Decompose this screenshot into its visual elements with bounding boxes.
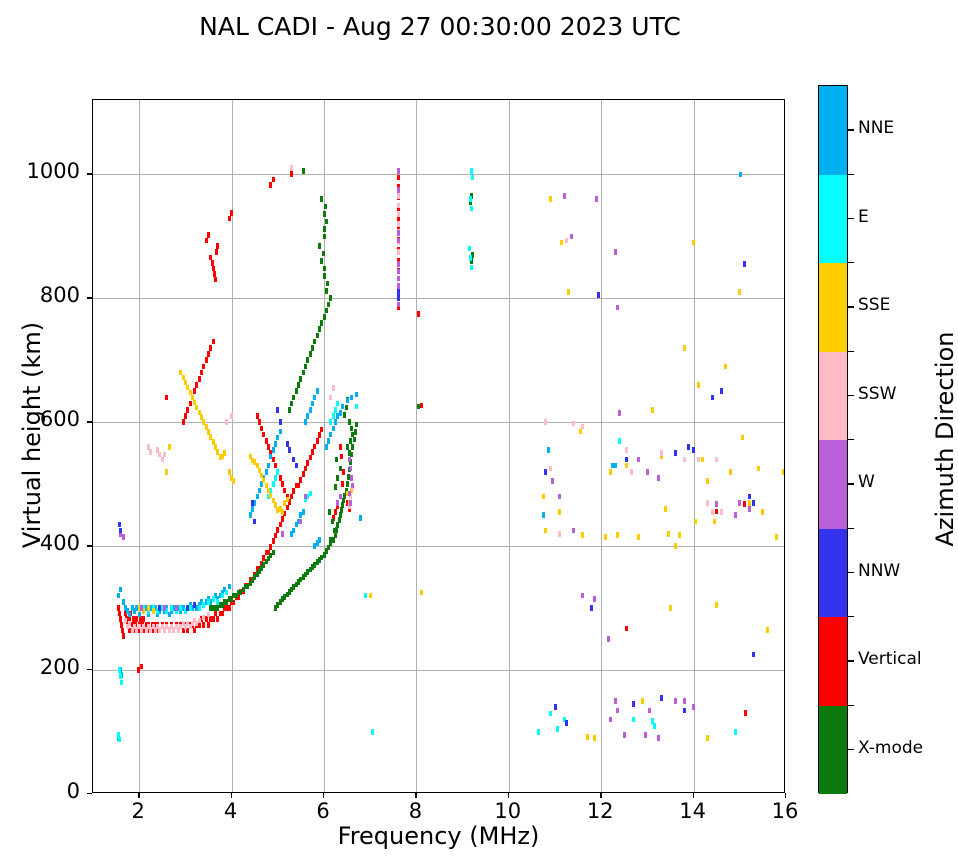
- echo-marker: [225, 590, 228, 596]
- echo-marker: [334, 509, 337, 515]
- echo-marker: [325, 288, 328, 294]
- x-tick-label: 2: [108, 799, 168, 823]
- echo-marker: [118, 522, 121, 528]
- y-axis-label: Virtual height (km): [18, 285, 46, 585]
- echo-marker: [251, 506, 254, 512]
- echo-marker: [320, 427, 323, 433]
- echo-marker: [329, 432, 332, 438]
- echo-marker: [542, 512, 545, 518]
- echo-marker: [738, 500, 741, 506]
- colorbar-boundary-tick: [848, 616, 854, 617]
- echo-marker: [572, 421, 575, 427]
- echo-marker: [311, 345, 314, 351]
- echo-marker: [547, 447, 550, 453]
- x-tick-label: 16: [755, 799, 815, 823]
- echo-marker: [586, 734, 589, 740]
- echo-marker: [674, 698, 677, 704]
- echo-marker: [329, 295, 332, 301]
- echo-marker: [711, 395, 714, 401]
- colorbar-boundary-tick: [848, 439, 854, 440]
- echo-marker: [470, 168, 473, 174]
- echo-marker: [272, 550, 275, 556]
- echo-marker: [212, 616, 215, 622]
- x-tick-label: 6: [293, 799, 353, 823]
- echo-marker: [542, 494, 545, 500]
- echo-marker: [228, 584, 231, 590]
- echo-marker: [209, 345, 212, 351]
- echo-marker: [618, 410, 621, 416]
- echo-marker: [332, 385, 335, 391]
- echo-marker: [471, 175, 474, 181]
- echo-marker: [214, 277, 217, 283]
- echo-marker: [371, 729, 374, 735]
- echo-marker: [641, 698, 644, 704]
- x-tick-label: 10: [478, 799, 538, 823]
- echo-marker: [329, 537, 332, 543]
- colorbar-segment-ssw[interactable]: [819, 352, 847, 441]
- echo-marker: [560, 240, 563, 246]
- echo-marker: [327, 302, 330, 308]
- echo-marker: [140, 664, 143, 670]
- echo-marker: [397, 295, 400, 301]
- echo-marker: [304, 364, 307, 370]
- x-tick-mark: [415, 793, 416, 798]
- echo-marker: [748, 494, 751, 500]
- echo-marker: [348, 457, 351, 463]
- echo-marker: [692, 704, 695, 710]
- echo-marker: [614, 463, 617, 469]
- echo-marker: [274, 463, 277, 469]
- echo-marker: [288, 407, 291, 413]
- echo-marker: [334, 484, 337, 490]
- echo-marker: [140, 605, 143, 611]
- echo-marker: [567, 289, 570, 295]
- echo-marker: [290, 171, 293, 177]
- echo-marker: [295, 388, 298, 394]
- echo-marker: [782, 469, 784, 475]
- echo-marker: [332, 426, 335, 432]
- colorbar-label-vertical: Vertical: [858, 649, 922, 669]
- colorbar-segment-sse[interactable]: [819, 263, 847, 352]
- echo-marker: [544, 528, 547, 534]
- echo-marker: [207, 622, 210, 628]
- echo-marker: [674, 543, 677, 549]
- echo-marker: [281, 516, 284, 522]
- echo-marker: [253, 519, 256, 525]
- echo-marker: [618, 438, 621, 444]
- echo-marker: [274, 533, 277, 539]
- echo-marker: [470, 265, 473, 271]
- echo-marker: [648, 708, 651, 714]
- echo-marker: [694, 519, 697, 525]
- echo-marker: [318, 326, 321, 332]
- echo-marker: [316, 388, 319, 394]
- echo-marker: [637, 534, 640, 540]
- echo-marker: [549, 196, 552, 202]
- echo-marker: [306, 413, 309, 419]
- echo-marker: [292, 395, 295, 401]
- echo-marker: [299, 477, 302, 483]
- echo-marker: [323, 226, 326, 232]
- echo-marker: [565, 720, 568, 726]
- echo-marker: [554, 704, 557, 710]
- echo-marker: [265, 469, 268, 475]
- echo-marker: [692, 447, 695, 453]
- echo-marker: [348, 419, 351, 425]
- echo-marker: [359, 515, 362, 521]
- echo-marker: [775, 534, 778, 540]
- y-tick-mark: [87, 173, 92, 174]
- colorbar-segment-vertical[interactable]: [819, 617, 847, 706]
- colorbar-boundary-tick: [848, 705, 854, 706]
- echo-marker: [323, 211, 326, 217]
- echo-marker: [272, 177, 275, 183]
- echo-marker: [168, 444, 171, 450]
- echo-marker: [128, 612, 131, 618]
- y-tick-label: 1000: [0, 159, 80, 183]
- echo-marker: [625, 463, 628, 469]
- echo-marker: [279, 419, 282, 425]
- echo-marker: [581, 532, 584, 538]
- echo-marker: [741, 435, 744, 441]
- echo-marker: [193, 602, 196, 608]
- x-tick-mark: [508, 793, 509, 798]
- echo-marker: [253, 459, 256, 465]
- echo-marker: [205, 357, 208, 363]
- echo-marker: [345, 405, 348, 411]
- echo-marker: [207, 351, 210, 357]
- y-tick-mark: [87, 421, 92, 422]
- echo-marker: [744, 710, 747, 716]
- echo-marker: [295, 463, 298, 469]
- x-tick-mark: [693, 793, 694, 798]
- echo-marker: [207, 612, 210, 618]
- echo-marker: [616, 305, 619, 311]
- echo-marker: [651, 407, 654, 413]
- echo-marker: [748, 500, 751, 506]
- echo-marker: [616, 708, 619, 714]
- echo-marker: [397, 212, 400, 218]
- echo-marker: [341, 404, 344, 410]
- echo-marker: [276, 435, 279, 441]
- echo-marker: [637, 457, 640, 463]
- colorbar-title: Azimuth Direction: [931, 289, 958, 589]
- echo-marker: [351, 483, 354, 489]
- echo-marker: [297, 382, 300, 388]
- echo-marker: [221, 611, 224, 617]
- echo-marker: [397, 249, 400, 255]
- echo-marker: [149, 449, 152, 455]
- echo-marker: [158, 605, 161, 611]
- echo-marker: [119, 673, 122, 679]
- echo-marker: [734, 729, 737, 735]
- echo-marker: [228, 469, 231, 475]
- echo-marker: [351, 432, 354, 438]
- echo-marker: [137, 667, 140, 673]
- echo-marker: [558, 494, 561, 500]
- echo-marker: [290, 165, 293, 171]
- echo-marker: [729, 469, 732, 475]
- echo-marker: [683, 698, 686, 704]
- x-tick-label: 14: [663, 799, 723, 823]
- echo-marker: [341, 481, 344, 487]
- echo-marker: [757, 466, 760, 472]
- y-tick-mark: [87, 297, 92, 298]
- echo-marker: [202, 622, 205, 628]
- echo-marker: [342, 469, 345, 475]
- echo-marker: [318, 432, 321, 438]
- echo-marker: [120, 680, 123, 686]
- echo-marker: [706, 500, 709, 506]
- echo-marker: [272, 481, 275, 487]
- echo-marker: [299, 376, 302, 382]
- echo-marker: [316, 438, 319, 444]
- echo-marker: [313, 444, 316, 450]
- echo-marker: [323, 273, 326, 279]
- echo-marker: [355, 392, 358, 398]
- echo-marker: [228, 605, 231, 611]
- echo-marker: [189, 401, 192, 407]
- echo-marker: [556, 726, 559, 732]
- echo-marker: [331, 519, 334, 525]
- echo-marker: [325, 308, 328, 314]
- plot-area[interactable]: [92, 99, 785, 793]
- echo-marker: [590, 605, 593, 611]
- echo-marker: [279, 475, 282, 481]
- echo-marker: [706, 735, 709, 741]
- echo-marker: [351, 444, 354, 450]
- echo-marker: [349, 438, 352, 444]
- echo-marker: [692, 240, 695, 246]
- echo-marker: [316, 333, 319, 339]
- echo-marker: [258, 419, 261, 425]
- echo-marker: [683, 345, 686, 351]
- echo-marker: [320, 196, 323, 202]
- echo-marker: [290, 401, 293, 407]
- echo-marker: [632, 717, 635, 723]
- echo-marker: [117, 593, 120, 599]
- colorbar-segment-e[interactable]: [819, 175, 847, 264]
- colorbar-segment-nne[interactable]: [819, 86, 847, 175]
- x-tick-mark: [600, 793, 601, 798]
- colorbar-tick: [848, 749, 854, 750]
- echo-marker: [683, 457, 686, 463]
- echo-marker: [251, 500, 254, 506]
- echo-marker: [678, 532, 681, 538]
- echo-marker: [309, 351, 312, 357]
- echo-marker: [706, 478, 709, 484]
- echo-marker: [286, 441, 289, 447]
- echo-marker: [558, 531, 561, 537]
- echo-marker: [215, 249, 218, 255]
- echo-marker: [304, 419, 307, 425]
- echo-marker: [397, 283, 400, 289]
- echo-marker: [200, 370, 203, 376]
- echo-marker: [260, 426, 263, 432]
- echo-marker: [565, 238, 568, 244]
- echo-marker: [364, 593, 367, 599]
- echo-marker: [320, 258, 323, 264]
- echo-marker: [563, 193, 566, 199]
- echo-marker: [202, 615, 205, 621]
- echo-marker: [212, 596, 215, 602]
- echo-marker: [216, 616, 219, 622]
- echo-marker: [537, 729, 540, 735]
- echo-marker: [593, 596, 596, 602]
- echo-marker: [343, 412, 346, 418]
- echo-marker: [339, 444, 342, 450]
- echo-marker: [119, 528, 122, 534]
- echo-marker: [342, 498, 345, 504]
- x-tick-mark: [138, 793, 139, 798]
- echo-marker: [324, 204, 327, 210]
- echo-marker: [340, 454, 343, 460]
- echo-marker: [420, 590, 423, 596]
- echo-marker: [761, 509, 764, 515]
- echo-marker: [336, 401, 339, 407]
- y-tick-label: 200: [0, 655, 80, 679]
- colorbar-tick: [848, 572, 854, 573]
- echo-marker: [350, 395, 353, 401]
- echo-marker: [632, 701, 635, 707]
- echo-marker: [152, 608, 155, 614]
- echo-marker: [205, 238, 208, 244]
- echo-marker: [609, 469, 612, 475]
- echo-marker: [715, 509, 718, 515]
- y-tick-mark: [87, 545, 92, 546]
- y-tick-mark: [87, 669, 92, 670]
- x-tick-mark: [231, 793, 232, 798]
- echo-marker: [549, 466, 552, 472]
- echo-marker: [309, 407, 312, 413]
- echo-marker: [276, 407, 279, 413]
- echo-marker: [122, 633, 125, 639]
- echo-marker: [269, 182, 272, 188]
- echo-marker: [748, 506, 751, 512]
- echo-marker: [276, 527, 279, 533]
- echo-marker: [230, 413, 233, 419]
- echo-marker: [202, 364, 205, 370]
- colorbar-boundary-tick: [848, 174, 854, 175]
- echo-marker: [138, 612, 141, 618]
- echo-marker: [122, 599, 125, 605]
- echo-marker: [711, 509, 714, 515]
- echo-marker: [397, 203, 400, 209]
- echo-marker: [334, 407, 337, 413]
- echo-marker: [128, 621, 131, 627]
- echo-marker: [269, 454, 272, 460]
- echo-marker: [119, 587, 122, 593]
- echo-marker: [625, 626, 628, 632]
- echo-marker: [302, 471, 305, 477]
- echo-marker: [335, 457, 338, 463]
- echo-marker: [336, 475, 339, 481]
- echo-marker: [256, 413, 259, 419]
- echo-marker: [262, 432, 265, 438]
- echo-marker: [715, 457, 718, 463]
- colorbar-segment-w[interactable]: [819, 440, 847, 529]
- echo-marker: [274, 441, 277, 447]
- echo-marker: [306, 357, 309, 363]
- colorbar-label-nnw: NNW: [858, 561, 900, 581]
- echo-marker: [318, 243, 321, 249]
- colorbar-segment-nnw[interactable]: [819, 529, 847, 618]
- echo-marker: [625, 447, 628, 453]
- echo-marker: [724, 364, 727, 370]
- echo-marker: [544, 419, 547, 425]
- echo-marker: [470, 206, 473, 212]
- echo-marker: [325, 219, 328, 225]
- echo-marker: [249, 512, 252, 518]
- echo-marker: [752, 500, 755, 506]
- echo-marker: [258, 488, 261, 494]
- colorbar-tick: [848, 660, 854, 661]
- echo-marker: [355, 404, 358, 410]
- echo-marker: [397, 302, 400, 308]
- echo-marker: [322, 251, 325, 257]
- echo-marker: [697, 382, 700, 388]
- echo-marker: [353, 437, 356, 443]
- x-tick-mark: [785, 793, 786, 798]
- echo-marker: [281, 509, 284, 515]
- echo-marker: [469, 255, 472, 261]
- echo-marker: [230, 210, 233, 216]
- echo-marker: [256, 494, 259, 500]
- echo-marker: [397, 175, 400, 181]
- echo-marker: [697, 457, 700, 463]
- echo-marker: [202, 602, 205, 608]
- echo-marker: [738, 289, 741, 295]
- echo-marker: [288, 447, 291, 453]
- echo-marker: [165, 395, 168, 401]
- colorbar-label-x-mode: X-mode: [858, 738, 923, 758]
- echo-marker: [186, 605, 189, 611]
- echo-marker: [338, 517, 341, 523]
- echo-marker: [272, 538, 275, 544]
- echo-marker: [551, 478, 554, 484]
- echo-marker: [323, 266, 326, 272]
- echo-marker: [579, 429, 582, 435]
- echo-marker: [355, 422, 358, 428]
- echo-marker: [326, 281, 329, 287]
- x-tick-mark: [323, 793, 324, 798]
- echo-marker: [165, 469, 168, 475]
- echo-marker: [350, 475, 353, 481]
- colorbar-tick: [848, 483, 854, 484]
- echo-marker: [616, 532, 619, 538]
- echo-marker: [124, 618, 127, 624]
- echo-marker: [302, 168, 305, 174]
- echo-marker: [179, 605, 182, 611]
- echo-marker: [313, 395, 316, 401]
- azimuth-colorbar[interactable]: [818, 85, 848, 793]
- y-tick-label: 0: [0, 779, 80, 803]
- echo-marker: [339, 512, 342, 518]
- echo-marker: [302, 509, 305, 515]
- echo-marker: [309, 491, 312, 497]
- echo-marker: [311, 401, 314, 407]
- echo-marker: [292, 457, 295, 463]
- echo-marker: [304, 466, 307, 472]
- echo-marker: [595, 196, 598, 202]
- echo-marker: [657, 735, 660, 741]
- echo-marker: [397, 289, 400, 295]
- echo-marker: [292, 528, 295, 534]
- echo-marker: [329, 395, 332, 401]
- colorbar-segment-x-mode[interactable]: [819, 706, 847, 795]
- echo-marker: [593, 735, 596, 741]
- echo-marker: [320, 320, 323, 326]
